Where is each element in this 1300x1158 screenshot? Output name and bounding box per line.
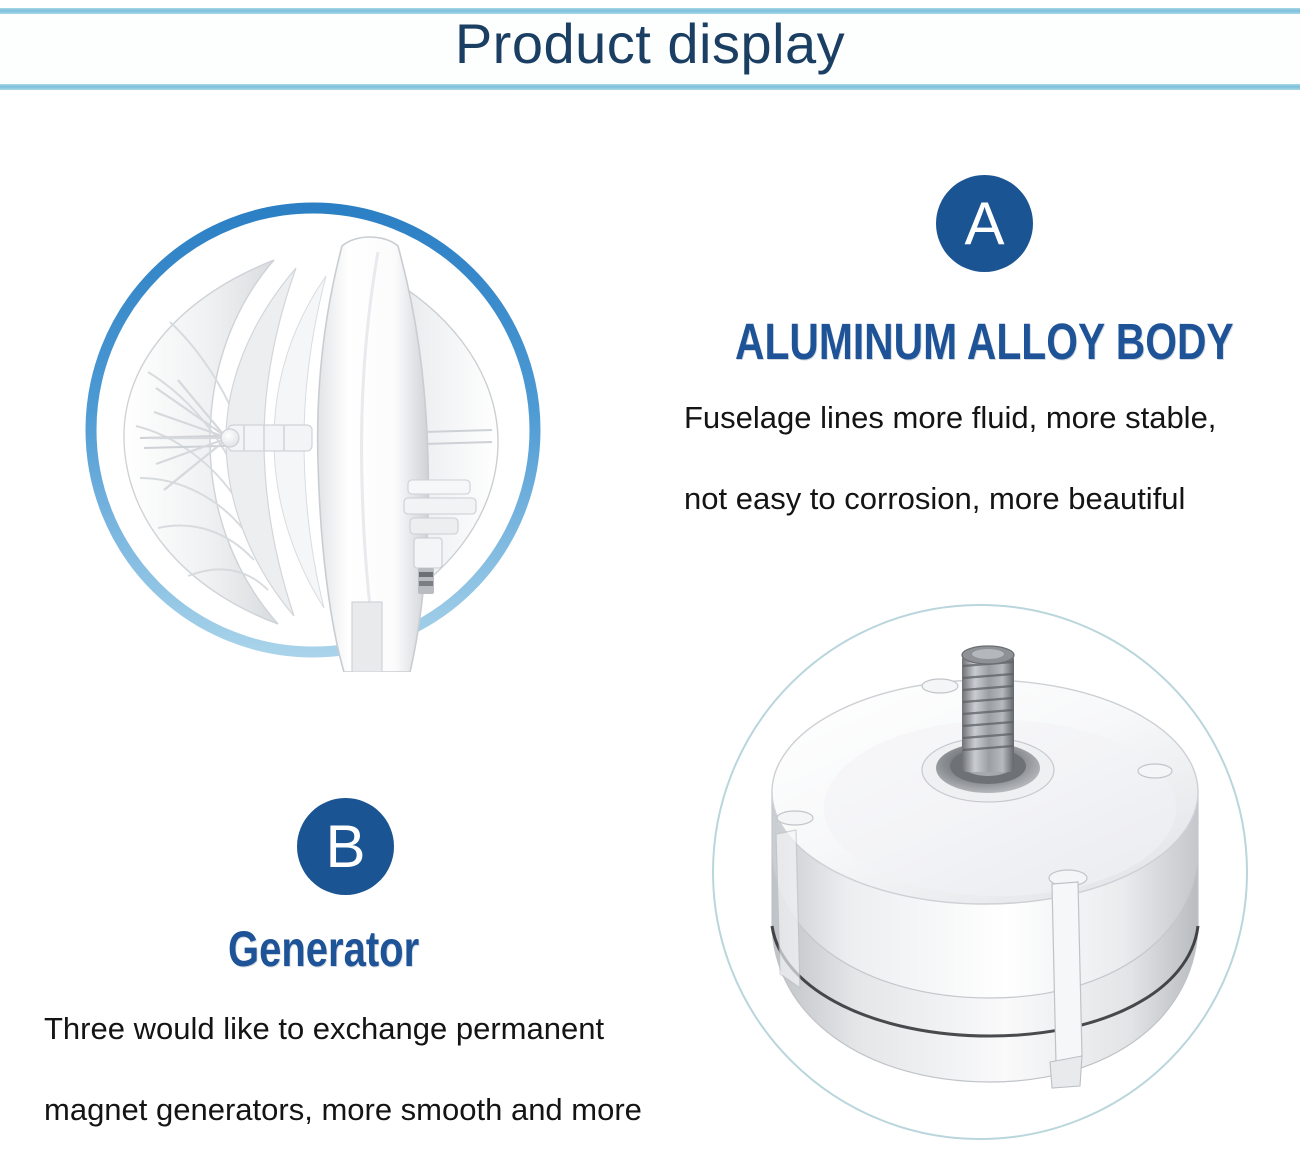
- section-a-body-line-1: Fuselage lines more fluid, more stable,: [684, 377, 1284, 458]
- badge-b-label: B: [325, 817, 365, 877]
- section-b-body-line-2: magnet generators, more smooth and more: [44, 1069, 744, 1150]
- section-b-body-line-3: stable choice: [44, 1150, 744, 1158]
- section-a-heading: ALUMINUM ALLOY BODY: [735, 316, 1234, 368]
- section-b-heading: Generator: [228, 923, 419, 975]
- section-a-body: Fuselage lines more fluid, more stable, …: [684, 377, 1284, 539]
- section-b-body: Three would like to exchange permanent m…: [44, 988, 744, 1158]
- header-rule-bottom: [0, 84, 1300, 90]
- badge-a-label: A: [964, 194, 1004, 254]
- generator-photo: [700, 596, 1260, 1152]
- product-display-page: Product display: [0, 0, 1300, 1158]
- badge-b: B: [297, 798, 394, 895]
- section-a-body-line-2: not easy to corrosion, more beautiful: [684, 458, 1284, 539]
- page-title: Product display: [0, 12, 1300, 76]
- badge-a: A: [936, 175, 1033, 272]
- turbine-photo: [78, 172, 548, 672]
- section-b-body-line-1: Three would like to exchange permanent: [44, 988, 744, 1069]
